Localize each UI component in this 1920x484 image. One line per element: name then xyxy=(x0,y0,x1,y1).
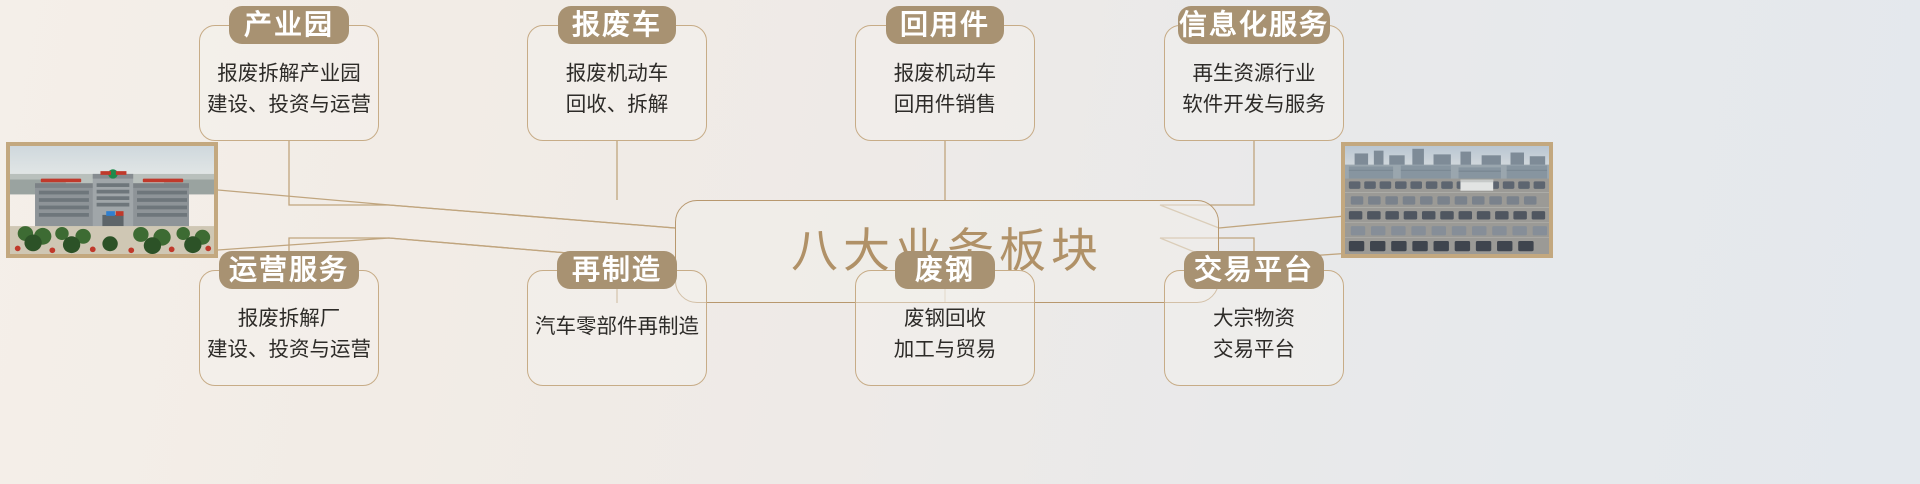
wire-photo-left-upper xyxy=(218,190,675,228)
segment-badge: 信息化服务 xyxy=(1178,6,1330,44)
segment-description: 废钢回收 加工与贸易 xyxy=(894,303,997,365)
segment-badge: 回用件 xyxy=(886,6,1004,44)
business-segments-diagram: 八大业务板块 产业园 报废拆解产业园 建设、投资与运营 报废车 报废机动车 回收… xyxy=(0,0,1920,484)
segment-badge: 废钢 xyxy=(895,251,995,289)
segment-description-line1: 废钢回收 xyxy=(894,303,997,334)
segment-description-line1: 再生资源行业 xyxy=(1182,58,1326,89)
segment-description-line2: 加工与贸易 xyxy=(894,334,997,365)
segment-card-informatization-service[interactable]: 信息化服务 再生资源行业 软件开发与服务 xyxy=(1164,25,1344,141)
segment-badge: 产业园 xyxy=(229,6,349,44)
segment-description-line2: 交易平台 xyxy=(1213,334,1295,365)
segment-description: 汽车零部件再制造 xyxy=(535,311,699,342)
office-building-illustration xyxy=(10,146,214,254)
segment-badge: 再制造 xyxy=(557,251,677,289)
segment-card-trading-platform[interactable]: 交易平台 大宗物资 交易平台 xyxy=(1164,270,1344,386)
segment-description: 报废机动车 回用件销售 xyxy=(894,58,997,120)
segment-card-operation-service[interactable]: 运营服务 报废拆解厂 建设、投资与运营 xyxy=(199,270,379,386)
segment-card-reused-parts[interactable]: 回用件 报废机动车 回用件销售 xyxy=(855,25,1035,141)
segment-description-line2: 建设、投资与运营 xyxy=(207,89,371,120)
segment-badge: 报废车 xyxy=(558,6,676,44)
segment-description: 再生资源行业 软件开发与服务 xyxy=(1182,58,1326,120)
segment-description-line2: 回收、拆解 xyxy=(566,89,669,120)
segment-description: 报废机动车 回收、拆解 xyxy=(566,58,669,120)
aerial-yard-illustration xyxy=(1345,146,1549,254)
segment-description-line1: 报废拆解厂 xyxy=(207,303,371,334)
segment-description-line1: 汽车零部件再制造 xyxy=(535,311,699,342)
segment-description: 大宗物资 交易平台 xyxy=(1213,303,1295,365)
segment-card-remanufacturing[interactable]: 再制造 汽车零部件再制造 xyxy=(527,270,707,386)
segment-description-line1: 报废机动车 xyxy=(894,58,997,89)
segment-badge: 运营服务 xyxy=(219,251,359,289)
segment-description-line1: 报废拆解产业园 xyxy=(207,58,371,89)
segment-description-line1: 大宗物资 xyxy=(1213,303,1295,334)
segment-card-industrial-park[interactable]: 产业园 报废拆解产业园 建设、投资与运营 xyxy=(199,25,379,141)
segment-description-line2: 回用件销售 xyxy=(894,89,997,120)
segment-description: 报废拆解产业园 建设、投资与运营 xyxy=(207,58,371,120)
segment-card-scrapped-vehicle[interactable]: 报废车 报废机动车 回收、拆解 xyxy=(527,25,707,141)
aerial-vehicle-yard-photo xyxy=(1341,142,1553,258)
segment-card-scrap-steel[interactable]: 废钢 废钢回收 加工与贸易 xyxy=(855,270,1035,386)
segment-description-line2: 软件开发与服务 xyxy=(1182,89,1326,120)
wire-card-1 xyxy=(289,141,675,228)
segment-description-line1: 报废机动车 xyxy=(566,58,669,89)
office-building-photo xyxy=(6,142,218,258)
segment-badge: 交易平台 xyxy=(1184,251,1324,289)
segment-description-line2: 建设、投资与运营 xyxy=(207,334,371,365)
segment-description: 报废拆解厂 建设、投资与运营 xyxy=(207,303,371,365)
